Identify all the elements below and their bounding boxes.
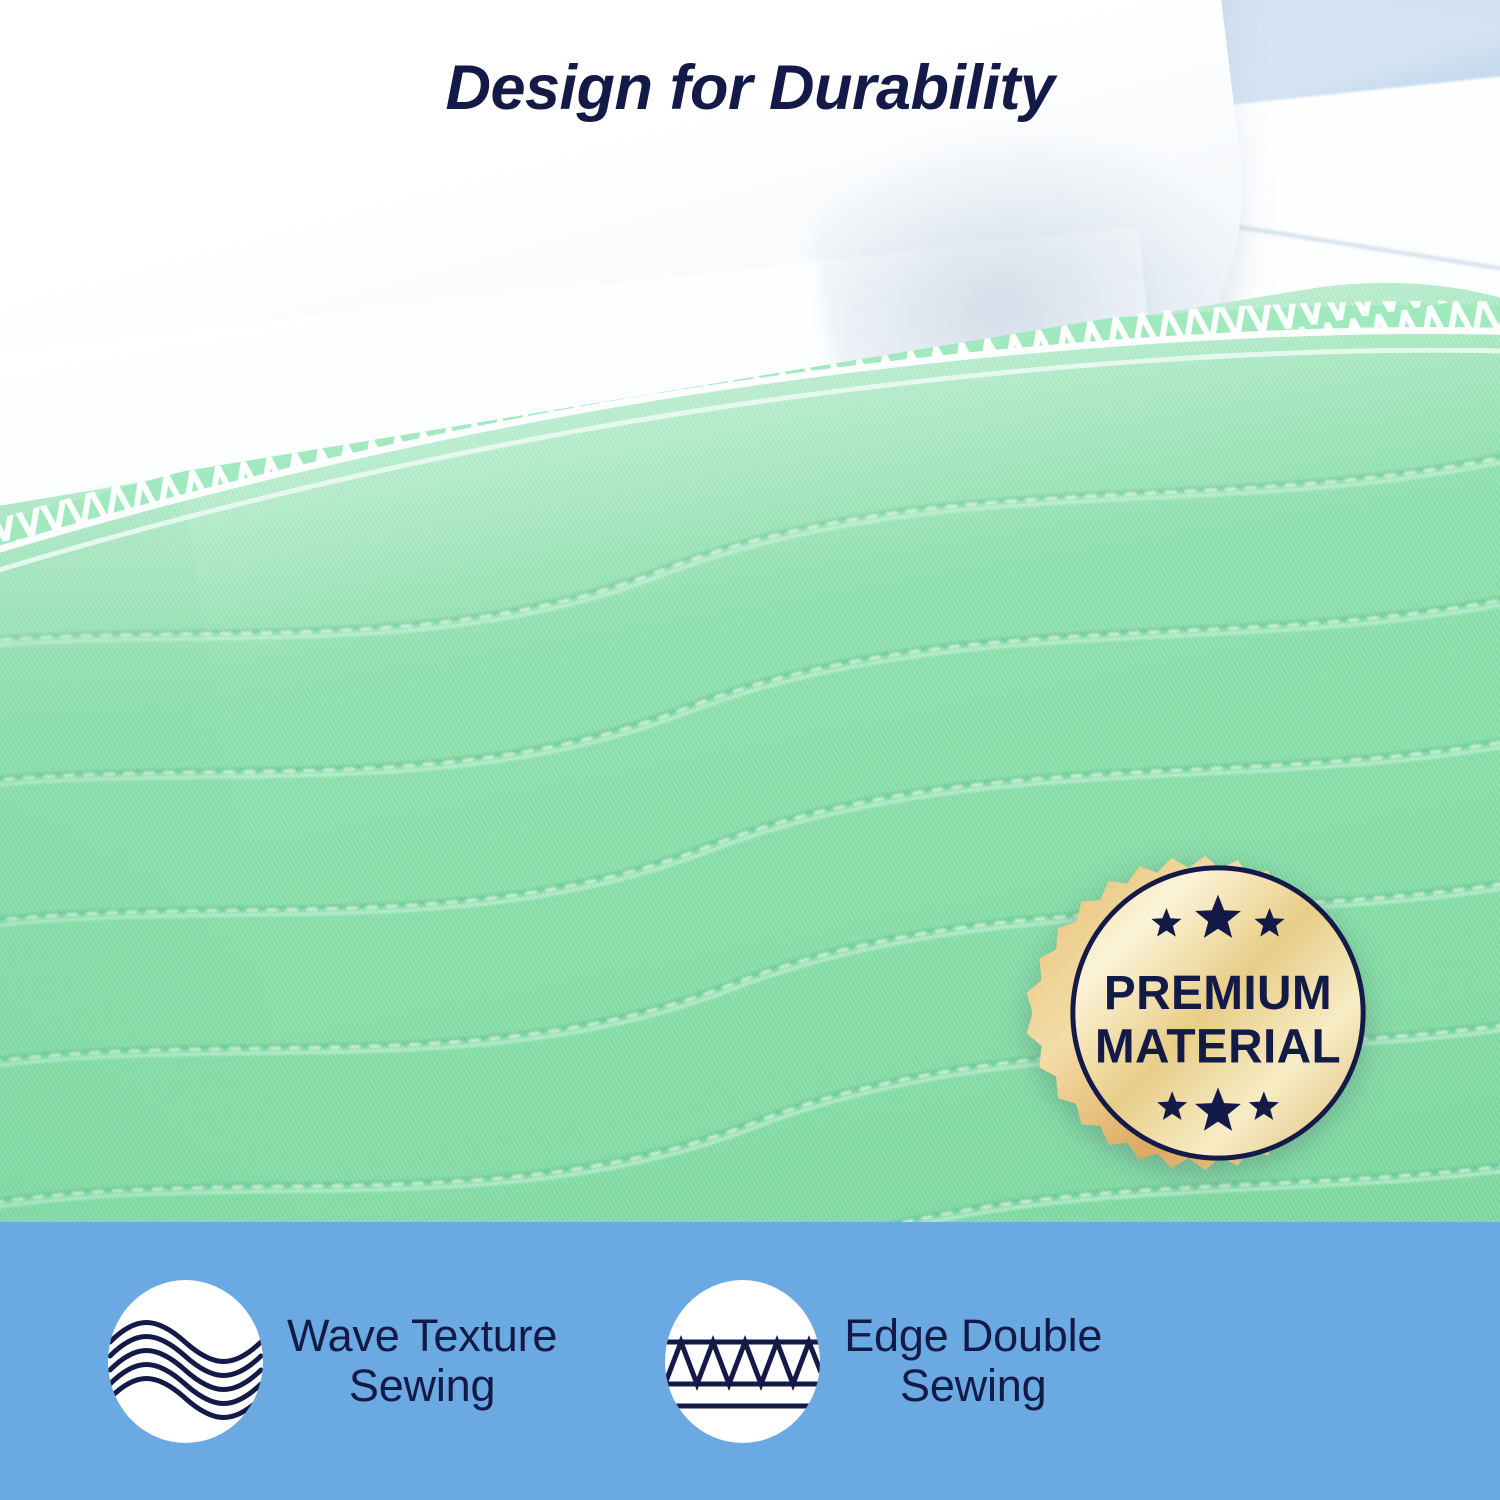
page-title: Design for Durability xyxy=(0,52,1500,124)
feature-label-wave-texture-sewing: Wave Texture Sewing xyxy=(287,1311,557,1412)
feature-wave-texture-sewing: Wave Texture Sewing xyxy=(108,1280,557,1443)
wave-lines-icon xyxy=(108,1280,263,1443)
product-marketing-image: Design for Durability xyxy=(0,0,1500,1500)
badge-line-1: PREMIUM xyxy=(1104,967,1332,1020)
feature-bar: Wave Texture Sewing Edge Double Sewing xyxy=(0,1222,1500,1500)
feature-label-edge-double-sewing: Edge Double Sewing xyxy=(844,1311,1102,1412)
product-photo: Design for Durability xyxy=(0,0,1500,1228)
premium-material-badge: PREMIUM MATERIAL xyxy=(1027,822,1409,1204)
badge-line-2: MATERIAL xyxy=(1095,1021,1341,1074)
feature-edge-double-sewing: Edge Double Sewing xyxy=(665,1280,1102,1443)
zigzag-stitch-icon xyxy=(665,1280,820,1443)
